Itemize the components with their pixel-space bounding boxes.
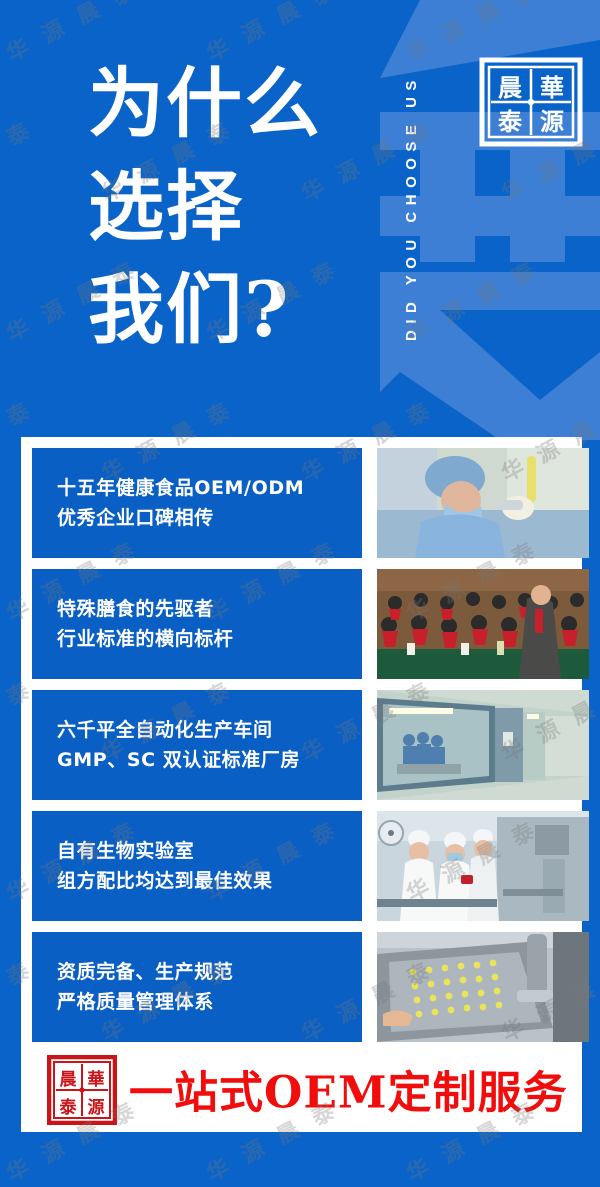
- conference-audience-photo: [377, 569, 589, 679]
- poster-root: 为什么 选择 我们? DID YOU CHOOSE US 晨 華 泰 源 十五年…: [0, 0, 600, 1187]
- vertical-english-caption: DID YOU CHOOSE US: [403, 22, 420, 394]
- brand-seal-red: 晨 華 泰 源: [47, 1055, 117, 1125]
- feature-photo-2: [377, 569, 589, 679]
- feature-3-line-2: GMP、SC 双认证标准厂房: [57, 745, 362, 775]
- feature-card-2[interactable]: 特殊膳食的先驱者 行业标准的横向标杆: [32, 569, 362, 679]
- feature-photo-5: [377, 932, 589, 1042]
- page-title: 为什么 选择 我们?: [88, 52, 388, 361]
- feature-card-3[interactable]: 六千平全自动化生产车间 GMP、SC 双认证标准厂房: [32, 690, 362, 800]
- white-coat-staff-photo: [377, 811, 589, 921]
- features-panel: 十五年健康食品OEM/ODM 优秀企业口碑相传: [21, 437, 582, 1048]
- page-title-line-2: 选择: [88, 155, 388, 258]
- watermark-text: 华 源 晨 泰: [0, 111, 39, 208]
- feature-row-5: 资质完备、生产规范 严格质量管理体系: [32, 932, 582, 1042]
- red-seal-char-top-left: 晨: [60, 1070, 78, 1090]
- page-title-line-3: 我们?: [88, 258, 388, 361]
- feature-row-4: 自有生物实验室 组方配比均达到最佳效果: [32, 811, 582, 921]
- feature-row-1: 十五年健康食品OEM/ODM 优秀企业口碑相传: [32, 448, 582, 558]
- feature-2-line-1: 特殊膳食的先驱者: [57, 594, 362, 624]
- watermark-text: 华 源 晨 泰: [400, 251, 544, 348]
- feature-photo-3: [377, 690, 589, 800]
- feature-row-2: 特殊膳食的先驱者 行业标准的横向标杆: [32, 569, 582, 679]
- feature-4-line-2: 组方配比均达到最佳效果: [57, 866, 362, 896]
- seal-char-top-left: 晨: [498, 73, 523, 102]
- brand-seal-white: 晨 華 泰 源: [479, 57, 583, 147]
- brand-seal-red-svg: 晨 華 泰 源: [47, 1055, 117, 1125]
- brand-seal-white-svg: 晨 華 泰 源: [479, 57, 583, 147]
- footer-bar: 晨 華 泰 源 一站式OEM定制服务: [21, 1048, 582, 1132]
- feature-card-5[interactable]: 资质完备、生产规范 严格质量管理体系: [32, 932, 362, 1042]
- lab-technician-photo: [377, 448, 589, 558]
- feature-photo-4: [377, 811, 589, 921]
- feature-3-line-1: 六千平全自动化生产车间: [57, 715, 362, 745]
- seal-char-top-right: 華: [540, 73, 564, 102]
- seal-char-bottom-left: 泰: [498, 107, 523, 136]
- feature-photo-1: [377, 448, 589, 558]
- red-seal-char-bottom-right: 源: [88, 1097, 105, 1118]
- feature-1-line-2: 优秀企业口碑相传: [57, 503, 362, 533]
- feature-card-1[interactable]: 十五年健康食品OEM/ODM 优秀企业口碑相传: [32, 448, 362, 558]
- page-title-line-1: 为什么: [88, 52, 388, 155]
- feature-row-3: 六千平全自动化生产车间 GMP、SC 双认证标准厂房: [32, 690, 582, 800]
- clean-room-corridor-photo: [377, 690, 589, 800]
- tablet-press-photo: [377, 932, 589, 1042]
- seal-char-bottom-right: 源: [540, 107, 564, 136]
- footer-slogan: 一站式OEM定制服务: [129, 1057, 568, 1121]
- red-seal-char-top-right: 華: [88, 1070, 105, 1090]
- red-seal-char-bottom-left: 泰: [60, 1097, 78, 1118]
- feature-4-line-1: 自有生物实验室: [57, 836, 362, 866]
- feature-card-4[interactable]: 自有生物实验室 组方配比均达到最佳效果: [32, 811, 362, 921]
- feature-2-line-2: 行业标准的横向标杆: [57, 624, 362, 654]
- feature-5-line-1: 资质完备、生产规范: [57, 957, 362, 987]
- feature-5-line-2: 严格质量管理体系: [57, 987, 362, 1017]
- feature-1-line-1: 十五年健康食品OEM/ODM: [57, 473, 362, 503]
